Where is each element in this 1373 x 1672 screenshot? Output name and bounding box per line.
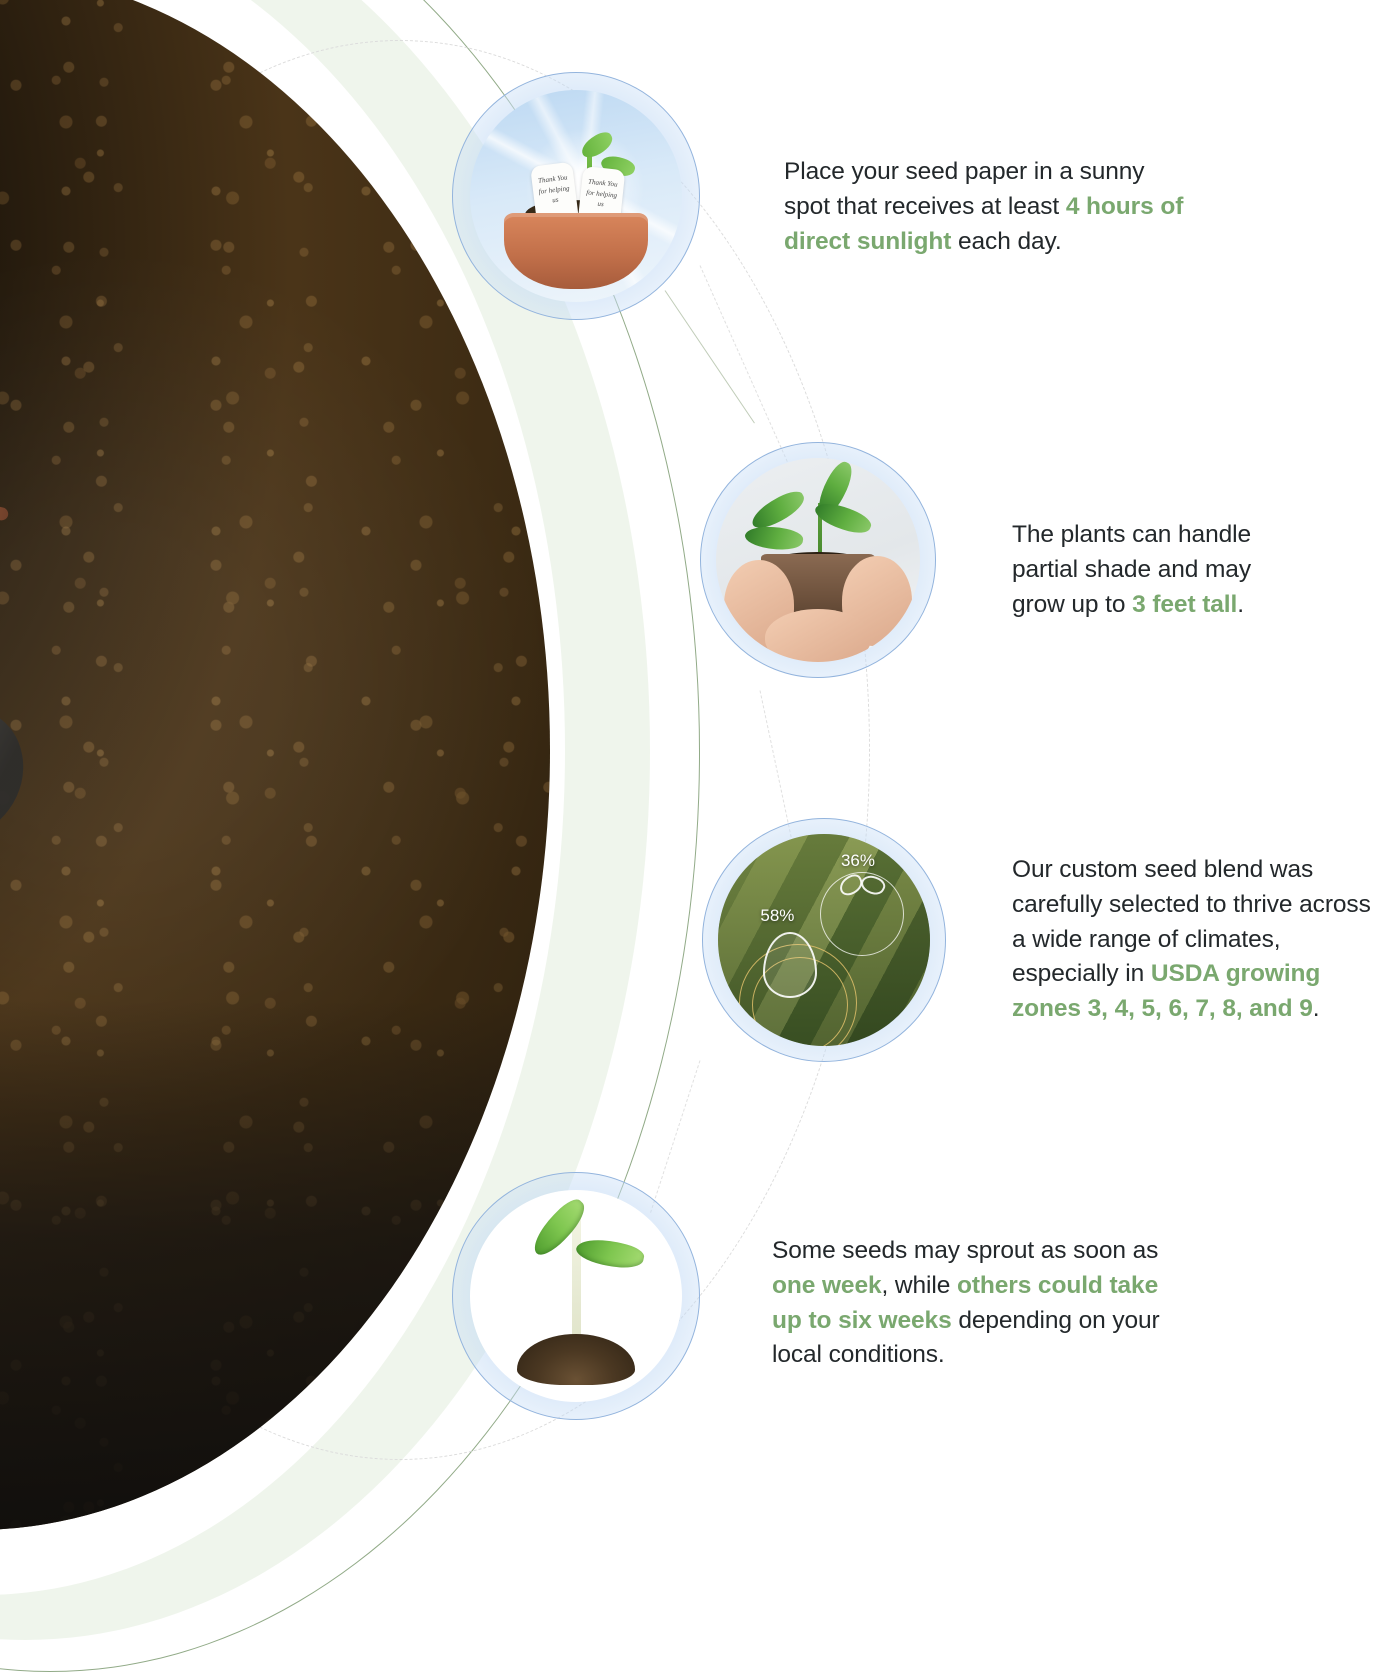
body-text: , while	[882, 1272, 957, 1299]
metric-value-moisture: 58%	[760, 906, 794, 926]
step-text-sunlight: Place your seed paper in a sunny spot th…	[784, 155, 1184, 259]
metric-value-growth: 36%	[841, 851, 875, 871]
fingers	[765, 609, 871, 662]
highlighted-text: one week	[772, 1272, 882, 1299]
step-circle-germination-time[interactable]	[452, 1172, 700, 1420]
connector-dash-3	[650, 1060, 700, 1212]
leaf-icon	[747, 486, 809, 533]
body-text: .	[1237, 591, 1244, 618]
aerial-farmland-photo: 36% 58%	[718, 834, 930, 1046]
card-line-1: Thank You	[537, 173, 567, 185]
leaf-icon	[574, 1234, 646, 1273]
body-text: .	[1313, 995, 1320, 1022]
soil-mound	[517, 1334, 636, 1385]
card-line-1: Thank You	[588, 178, 618, 189]
step-text-germination-time: Some seeds may sprout as soon as one wee…	[772, 1234, 1192, 1373]
highlighted-text: 3 feet tall	[1132, 591, 1237, 618]
leaf-icon	[743, 523, 803, 553]
connector-dash-2	[760, 690, 792, 837]
card-line-2: for helping us	[538, 184, 570, 205]
step-circle-partial-shade[interactable]	[700, 442, 936, 678]
hands-holding-pot-photo	[716, 458, 920, 662]
sprout-growth-icon	[839, 876, 885, 920]
sprout-in-soil-photo	[470, 1190, 682, 1402]
step-circle-usda-zones[interactable]: 36% 58%	[702, 818, 946, 1062]
seed-paper-pot-photo: Thank You for helping us Thank You for h…	[470, 90, 682, 302]
body-text: each day.	[951, 228, 1061, 255]
leaf-icon	[858, 872, 888, 899]
step-text-partial-shade: The plants can handle partial shade and …	[1012, 518, 1302, 622]
card-line-2: for helping us	[586, 188, 618, 208]
step-circle-sunlight[interactable]: Thank You for helping us Thank You for h…	[452, 72, 700, 320]
body-text: Some seeds may sprout as soon as	[772, 1237, 1158, 1264]
step-text-usda-zones: Our custom seed blend was carefully sele…	[1012, 853, 1372, 1027]
